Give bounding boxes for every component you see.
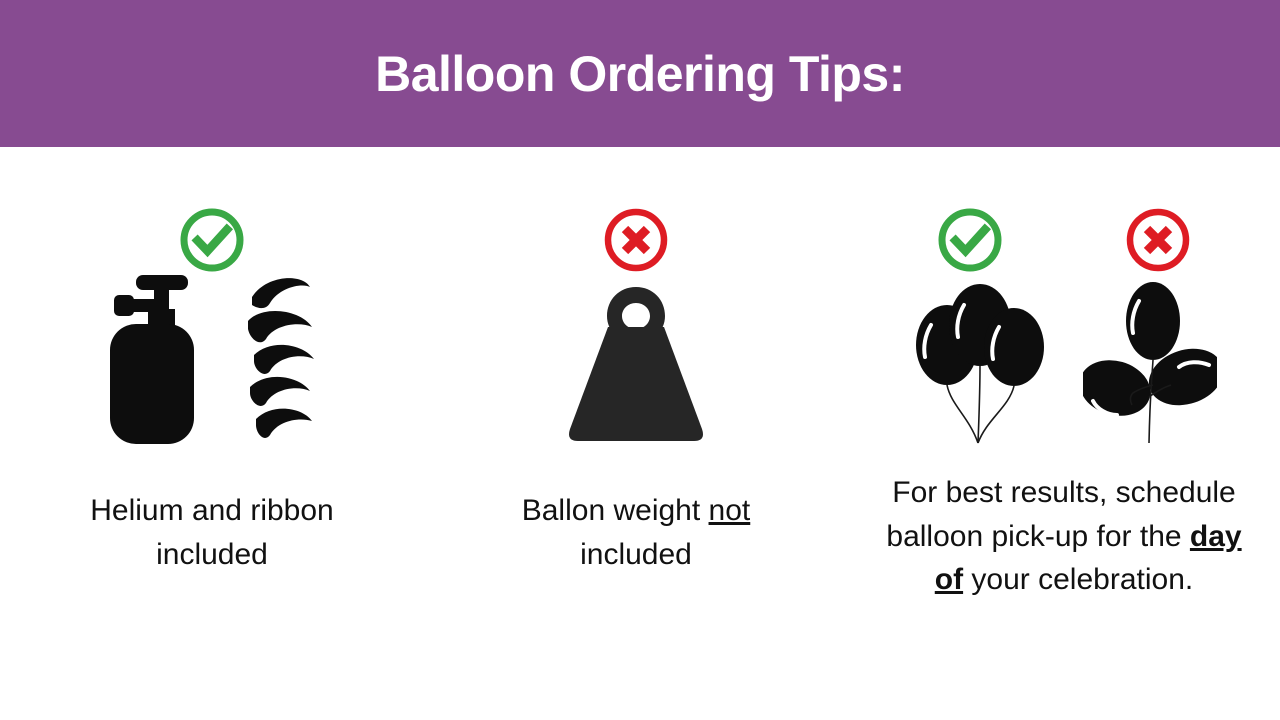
tips-area: Helium and ribbon included Ballon weight… [0,147,1280,720]
art-row-weight [550,239,722,449]
header-banner: Balloon Ordering Tips: [0,0,1280,147]
balloon-bunch-deflated-icon [1083,277,1217,449]
caption-weight-text-2: included [580,538,692,571]
caption-helium-text: Helium and ribbon included [90,494,333,571]
tip-column-weight: Ballon weight not included [424,147,848,576]
art-row-pickup [911,239,1217,449]
page-title: Balloon Ordering Tips: [375,49,905,99]
caption-weight-text-1: Ballon weight [522,494,709,527]
status-row-helium [177,147,247,239]
caption-pickup-text-1: For best results, schedule balloon pick-… [886,476,1235,553]
caption-pickup-text-2: your celebration. [963,563,1193,596]
caption-helium: Helium and ribbon included [36,489,388,576]
status-row-weight [601,147,671,239]
caption-weight: Ballon weight not included [460,489,812,576]
caption-pickup: For best results, schedule balloon pick-… [863,471,1265,602]
art-row-helium [106,239,318,449]
curly-ribbon-icon [240,269,318,449]
status-row-pickup [935,147,1193,239]
balloon-bunch-inflated-icon [911,277,1045,449]
helium-tank-icon [106,269,202,449]
balloon-weight-icon [550,279,722,449]
tip-column-helium: Helium and ribbon included [0,147,424,576]
tip-column-pickup: For best results, schedule balloon pick-… [848,147,1280,602]
caption-weight-emphasis: not [709,494,751,527]
